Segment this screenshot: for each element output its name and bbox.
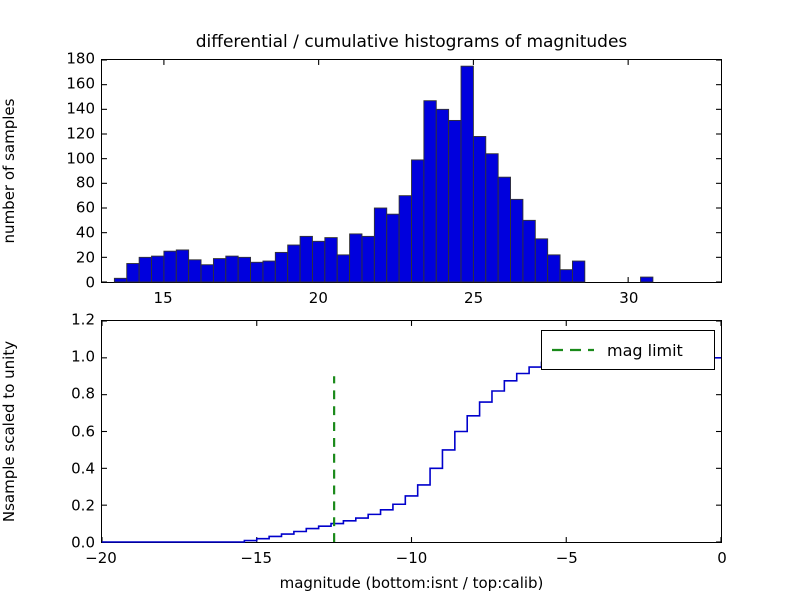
top-ytick-0: 0 xyxy=(37,276,95,291)
figure-canvas: differential / cumulative histograms of … xyxy=(0,0,800,600)
top-xtick-1: 20 xyxy=(309,291,328,306)
bottom-ytick-4: 0.8 xyxy=(37,387,95,402)
mag-limit-dashed-line-icon xyxy=(551,343,595,357)
bottom-xtick-4: 0 xyxy=(717,551,727,566)
top-ytick-3: 60 xyxy=(37,201,95,216)
differential-histogram-axes xyxy=(101,59,722,283)
bottom-xtick-0: −20 xyxy=(85,551,117,566)
top-ytick-8: 160 xyxy=(37,76,95,91)
top-ytick-6: 120 xyxy=(37,126,95,141)
bottom-xtick-3: −5 xyxy=(556,551,578,566)
top-ytick-9: 180 xyxy=(37,52,95,67)
bottom-axis-y-label: Nsample scaled to unity xyxy=(0,341,18,522)
bottom-ytick-1: 0.2 xyxy=(37,498,95,513)
bottom-ytick-2: 0.4 xyxy=(37,461,95,476)
top-ytick-1: 20 xyxy=(37,251,95,266)
top-ytick-7: 140 xyxy=(37,101,95,116)
bottom-ytick-3: 0.6 xyxy=(37,424,95,439)
bottom-xtick-1: −15 xyxy=(240,551,272,566)
top-ytick-4: 80 xyxy=(37,176,95,191)
legend-box: mag limit xyxy=(541,330,715,370)
top-xtick-2: 25 xyxy=(464,291,483,306)
top-xtick-3: 30 xyxy=(619,291,638,306)
differential-histogram-plot xyxy=(102,60,721,282)
top-ytick-2: 40 xyxy=(37,226,95,241)
bottom-ytick-6: 1.2 xyxy=(37,313,95,328)
bottom-xtick-2: −10 xyxy=(396,551,428,566)
legend-label-mag-limit: mag limit xyxy=(607,341,683,360)
bottom-ytick-5: 1.0 xyxy=(37,350,95,365)
top-ytick-5: 100 xyxy=(37,151,95,166)
page-title: differential / cumulative histograms of … xyxy=(101,32,722,52)
top-axis-y-label: number of samples xyxy=(0,99,18,244)
bottom-axis-x-label: magnitude (bottom:isnt / top:calib) xyxy=(101,574,722,592)
top-xtick-0: 15 xyxy=(154,291,173,306)
